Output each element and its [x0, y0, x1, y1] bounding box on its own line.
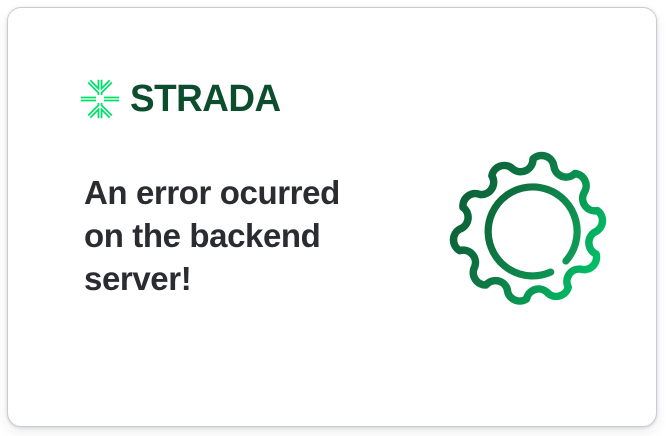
error-message-line-1: An error ocurred — [84, 171, 384, 214]
error-message-line-2: on the backend — [84, 214, 384, 257]
gear-spinner-icon — [448, 145, 618, 315]
error-message-line-3: server! — [84, 257, 384, 300]
error-card: STRADA An error ocurred on the backend s… — [7, 7, 657, 427]
strada-asterisk-icon — [80, 79, 120, 119]
brand-logo: STRADA — [80, 76, 285, 122]
brand-wordmark: STRADA — [130, 80, 281, 118]
error-message: An error ocurred on the backend server! — [84, 171, 384, 300]
